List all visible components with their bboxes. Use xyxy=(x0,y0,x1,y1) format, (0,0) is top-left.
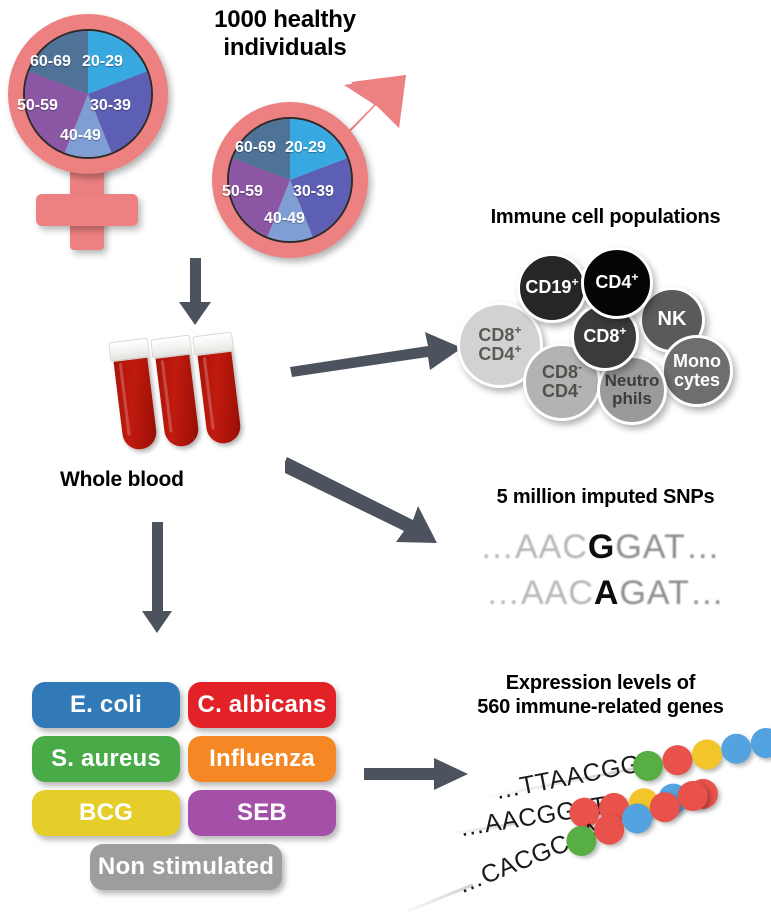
stimulation-conditions-panel: E. coli C. albicans S. aureus Influenza … xyxy=(32,682,352,892)
female-pie-label-50-59: 50-59 xyxy=(17,97,58,115)
snp-sequence-row: …AACAGAT… xyxy=(486,574,725,613)
cell-circle-cd4pos: CD4+ xyxy=(581,247,653,319)
male-pie-label-20-29: 20-29 xyxy=(285,139,326,157)
stimulation-label: C. albicans xyxy=(198,691,327,719)
stimulation-label: S. aureus xyxy=(51,745,161,773)
snp-prefix: …AAC xyxy=(480,528,588,566)
snp-variant-allele: A xyxy=(594,574,620,612)
female-pie-label-60-69: 60-69 xyxy=(30,53,71,71)
page-title-line2: individuals xyxy=(170,34,400,62)
figure-canvas: 1000 healthy individuals 20-29 30-39 40-… xyxy=(0,0,771,922)
stimulation-box-seb[interactable]: SEB xyxy=(188,790,336,836)
snp-prefix: …AAC xyxy=(486,574,594,612)
female-symbol-crossbar xyxy=(36,194,138,226)
arrow-blood-to-snps xyxy=(285,455,465,555)
cell-circle-label: NK xyxy=(658,309,687,331)
expression-bead xyxy=(748,725,771,760)
stimulation-box-e-coli[interactable]: E. coli xyxy=(32,682,180,728)
male-pie-label-30-39: 30-39 xyxy=(293,183,334,201)
snp-sequence-block: …AACGGAT… …AACAGAT… xyxy=(480,528,760,618)
snp-suffix: GAT… xyxy=(619,574,724,612)
stimulation-label: BCG xyxy=(79,799,133,827)
stimulation-box-s-aureus[interactable]: S. aureus xyxy=(32,736,180,782)
cell-circle-label: CD19+ xyxy=(525,278,578,297)
cell-circle-monocytes: Mono cytes xyxy=(661,335,733,407)
cell-circle-label: CD8+ CD4+ xyxy=(478,326,521,365)
expression-bead xyxy=(689,737,724,772)
arrow-blood-to-immune-svg xyxy=(290,320,470,380)
female-pie-label-40-49: 40-49 xyxy=(60,127,101,145)
stimulation-box-c-albicans[interactable]: C. albicans xyxy=(188,682,336,728)
page-title-line1: 1000 healthy xyxy=(170,6,400,34)
cell-circle-label: CD8+ xyxy=(583,327,626,346)
female-pie-label-20-29: 20-29 xyxy=(82,53,123,71)
expression-title-line2: 560 immune-related genes xyxy=(430,696,771,720)
arrow-blood-to-immune xyxy=(290,320,470,380)
cell-circle-label: CD8- CD4- xyxy=(542,363,582,402)
immune-section-title: Immune cell populations xyxy=(440,206,771,230)
stimulation-box-non-stimulated[interactable]: Non stimulated xyxy=(90,844,282,890)
snps-section-title: 5 million imputed SNPs xyxy=(440,486,771,510)
female-pie-label-30-39: 30-39 xyxy=(90,97,131,115)
cell-circle-label: Neutro phils xyxy=(605,372,660,409)
expression-bead xyxy=(660,743,695,778)
snp-variant-allele: G xyxy=(588,528,615,566)
arrow-blood-to-snps-svg xyxy=(285,455,465,555)
cell-circle-cd19pos: CD19+ xyxy=(517,253,587,323)
cell-circle-label: CD4+ xyxy=(595,273,638,292)
stimulation-label: E. coli xyxy=(70,691,142,719)
stimulation-box-influenza[interactable]: Influenza xyxy=(188,736,336,782)
male-gender-symbol: 20-29 30-39 40-49 50-59 60-69 xyxy=(208,80,418,260)
gene-expression-strands: …TTAACGG …AACGGAT …CACGCAA xyxy=(460,738,771,908)
expression-section-title: Expression levels of 560 immune-related … xyxy=(430,672,771,719)
immune-cell-population-cluster: CD8+ CD4+ CD19+ CD4+ NK CD8+ xyxy=(455,245,755,425)
stimulation-label: SEB xyxy=(237,799,287,827)
stimulation-label: Influenza xyxy=(209,745,315,773)
whole-blood-label: Whole blood xyxy=(60,468,280,493)
blood-collection-tubes xyxy=(105,340,245,460)
snp-sequence-row: …AACGGAT… xyxy=(480,528,721,567)
blood-tube xyxy=(195,332,242,445)
male-pie-label-40-49: 40-49 xyxy=(264,210,305,228)
stimulation-box-bcg[interactable]: BCG xyxy=(32,790,180,836)
page-title: 1000 healthy individuals xyxy=(170,6,400,63)
arrow-stimuli-to-expression xyxy=(364,756,474,792)
male-pie-label-60-69: 60-69 xyxy=(235,139,276,157)
expression-title-line1: Expression levels of xyxy=(430,672,771,696)
female-gender-symbol: 20-29 30-39 40-49 50-59 60-69 xyxy=(8,14,168,254)
stimulation-label: Non stimulated xyxy=(98,853,274,881)
male-pie-label-50-59: 50-59 xyxy=(222,183,263,201)
snp-suffix: GAT… xyxy=(615,528,720,566)
arrow-stimuli-to-expression-svg xyxy=(364,756,474,792)
cell-circle-label: Mono cytes xyxy=(673,352,721,391)
expression-bead xyxy=(719,731,754,766)
